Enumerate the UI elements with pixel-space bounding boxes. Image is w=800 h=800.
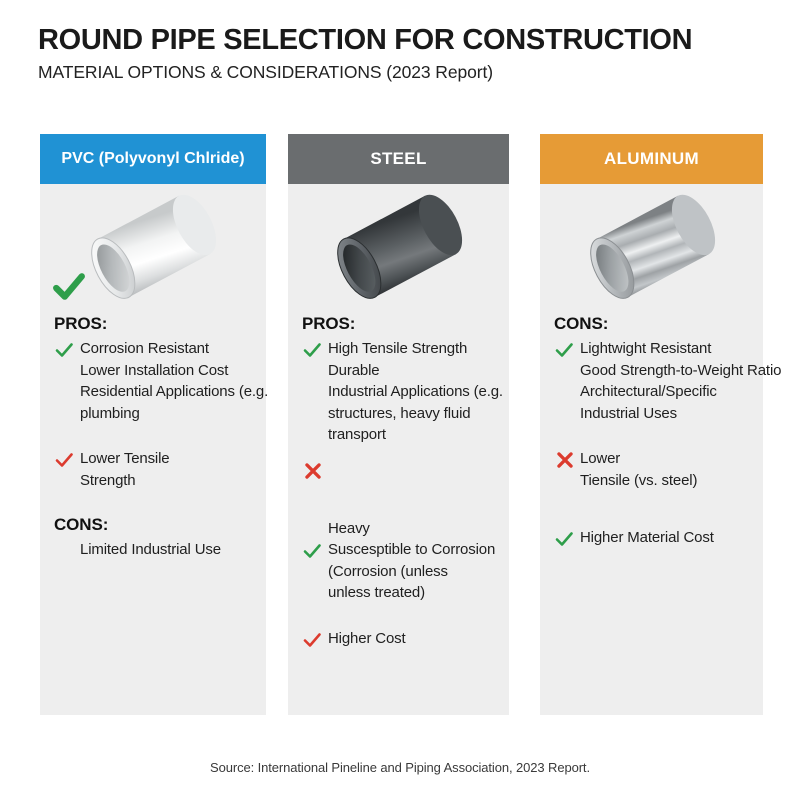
list-line: Lower Tensile	[80, 448, 258, 470]
list-line: (Corrosion (unless	[328, 561, 501, 583]
list-line: unless treated)	[328, 582, 501, 604]
pipe-white-icon	[68, 192, 238, 302]
list-line: plumbing	[80, 403, 258, 425]
list-line: Higher Cost	[328, 628, 501, 650]
source-note: Source: International Pineline and Pipin…	[0, 760, 800, 775]
column-body-pvc: PROS: Corrosion Resistant Lower Installa…	[40, 184, 266, 715]
page-header: ROUND PIPE SELECTION FOR CONSTRUCTION MA…	[38, 24, 768, 83]
list-item: Higher Cost	[302, 628, 501, 650]
list-item-lines: Lower Tensile Strength	[80, 448, 258, 491]
list-line: Limited Industrial Use	[54, 539, 258, 561]
list-item: High Tensile Strength Durable Industrial…	[302, 338, 501, 446]
column-aluminum: ALUMINUM	[540, 134, 763, 715]
pipe-metal-icon	[567, 192, 737, 302]
green-check-icon	[554, 529, 574, 549]
list-line: Tiensile (vs. steel)	[580, 470, 755, 492]
column-header-steel: STEEL	[288, 134, 509, 184]
list-line: Durable	[328, 360, 501, 382]
column-body-aluminum: CONS: Lightwight Resistant Good Strength…	[540, 184, 763, 715]
list-item: Lower Tensile Strength	[54, 448, 258, 491]
list-line: Lower	[580, 448, 755, 470]
list-line: Heavy	[328, 518, 501, 540]
list-item-lines: Higher Cost	[328, 628, 501, 650]
list-item-lines: Higher Material Cost	[580, 527, 755, 549]
section-title-pros-steel: PROS:	[302, 314, 501, 334]
list-line: Residential Applications (e.g.	[80, 381, 258, 403]
pipe-illustration-steel	[288, 184, 509, 314]
list-line: Corrosion Resistant	[80, 338, 258, 360]
list-line: Strength	[80, 470, 258, 492]
red-check-icon	[302, 630, 322, 650]
list-item-lines: Corrosion Resistant Lower Installation C…	[80, 338, 258, 424]
list-line: Higher Material Cost	[580, 527, 755, 549]
page-title: ROUND PIPE SELECTION FOR CONSTRUCTION	[38, 24, 768, 56]
pipe-illustration-pvc	[40, 184, 266, 314]
section-title-cons-aluminum: CONS:	[554, 314, 755, 334]
pipe-illustration-aluminum	[540, 184, 763, 314]
list-item-empty	[302, 460, 501, 482]
list-item: Higher Material Cost	[554, 527, 755, 549]
column-pvc: PVC (Polyvonyl Chlride)	[40, 134, 266, 715]
column-body-steel: PROS: High Tensile Strength Durable Indu…	[288, 184, 509, 715]
list-item-lines: Lightwight Resistant Good Strength-to-We…	[580, 338, 755, 424]
list-item-lines: High Tensile Strength Durable Industrial…	[328, 338, 501, 446]
pipe-dark-icon	[314, 192, 484, 302]
list-item-lines: Lower Tiensile (vs. steel)	[580, 448, 755, 491]
column-header-aluminum: ALUMINUM	[540, 134, 763, 184]
list-item: Lower Tiensile (vs. steel)	[554, 448, 755, 491]
list-line: structures, heavy fluid	[328, 403, 501, 425]
red-x-icon	[302, 460, 324, 482]
comparison-columns: PVC (Polyvonyl Chlride)	[0, 134, 800, 719]
list-item: Corrosion Resistant Lower Installation C…	[54, 338, 258, 424]
red-check-icon	[54, 450, 74, 470]
list-item-lines: Heavy Suscesptible to Corrosion (Corrosi…	[328, 518, 501, 604]
green-check-icon	[52, 270, 86, 304]
column-steel: STEEL	[288, 134, 509, 715]
section-pros-steel: PROS: High Tensile Strength Durable Indu…	[288, 314, 509, 649]
section-pros-pvc: PROS: Corrosion Resistant Lower Installa…	[40, 314, 266, 561]
page-subtitle: MATERIAL OPTIONS & CONSIDERATIONS (2023 …	[38, 62, 768, 83]
list-line: Lower Installation Cost	[80, 360, 258, 382]
green-check-icon	[554, 340, 574, 360]
green-check-icon	[302, 340, 322, 360]
list-item: Heavy Suscesptible to Corrosion (Corrosi…	[302, 518, 501, 604]
green-check-icon	[302, 541, 322, 561]
column-header-pvc: PVC (Polyvonyl Chlride)	[40, 134, 266, 184]
section-title-pros-pvc: PROS:	[54, 314, 258, 334]
list-line: Architectural/Specific	[580, 381, 755, 403]
list-line: Industrial Applications (e.g.	[328, 381, 501, 403]
list-line: Suscesptible to Corrosion	[328, 539, 501, 561]
list-line: Industrial Uses	[580, 403, 755, 425]
list-line: High Tensile Strength	[328, 338, 501, 360]
list-item: Lightwight Resistant Good Strength-to-We…	[554, 338, 755, 424]
green-check-icon	[54, 340, 74, 360]
red-x-icon	[554, 449, 576, 471]
section-cons-aluminum: CONS: Lightwight Resistant Good Strength…	[540, 314, 763, 549]
section-title-cons-pvc: CONS:	[54, 515, 258, 535]
list-line: transport	[328, 424, 501, 446]
list-line: Lightwight Resistant	[580, 338, 755, 360]
list-line: Good Strength-to-Weight Ratio	[580, 360, 755, 382]
